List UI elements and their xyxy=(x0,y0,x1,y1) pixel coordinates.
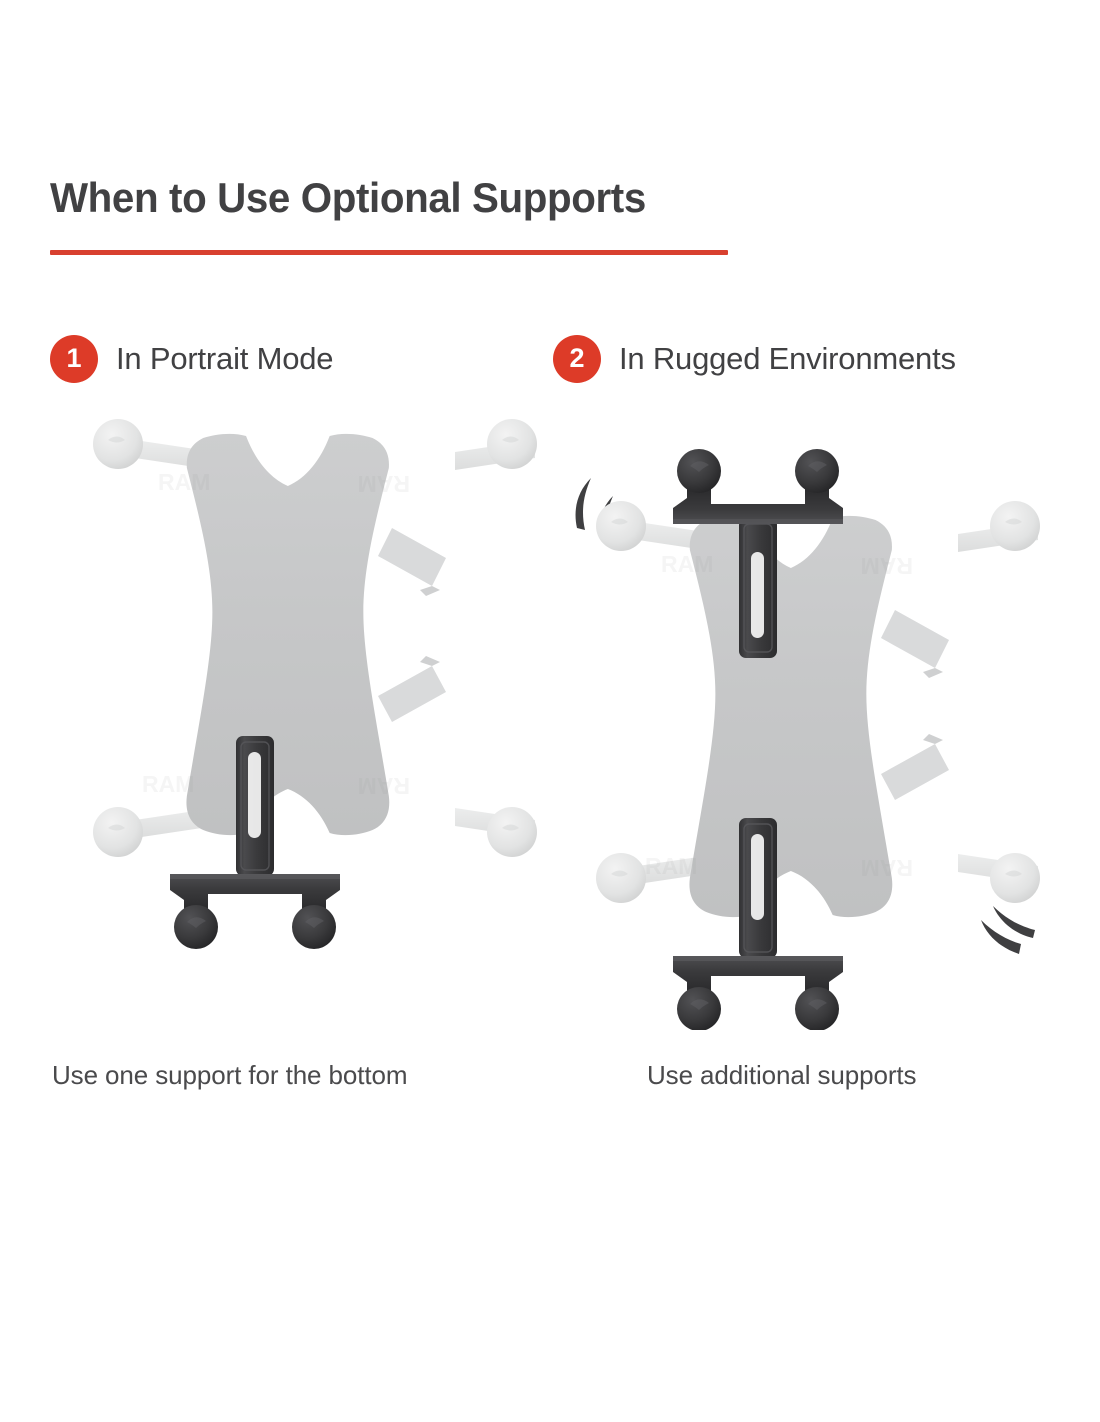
bracket-ball-right xyxy=(795,449,839,493)
svg-text:RAM: RAM xyxy=(358,773,410,799)
header: When to Use Optional Supports xyxy=(50,176,1010,220)
svg-text:RAM: RAM xyxy=(142,771,194,797)
panel-rugged-environments: 2 In Rugged Environments xyxy=(553,330,1053,1130)
svg-text:RAM: RAM xyxy=(358,471,410,497)
svg-text:RAM: RAM xyxy=(861,855,913,881)
cradle-side-tabs xyxy=(378,528,446,722)
panel-portrait-mode: 1 In Portrait Mode xyxy=(50,330,550,1130)
step-number-badge: 2 xyxy=(553,335,601,383)
svg-text:RAM: RAM xyxy=(661,551,713,577)
svg-text:RAM: RAM xyxy=(861,553,913,579)
infographic-page: When to Use Optional Supports 1 In Portr… xyxy=(0,0,1100,1422)
bracket-ball-left xyxy=(174,905,218,949)
illustration-rugged-environments: RAM RAM RAM RAM xyxy=(543,400,1053,1030)
panel-caption: Use one support for the bottom xyxy=(52,1060,407,1091)
svg-text:RAM: RAM xyxy=(645,853,697,879)
title-underline-rule xyxy=(50,250,728,255)
bracket-ball-right xyxy=(292,905,336,949)
bracket-ball-right xyxy=(795,987,839,1030)
panel-heading: In Rugged Environments xyxy=(619,341,956,377)
panel-caption: Use additional supports xyxy=(647,1060,916,1091)
step-number-badge: 1 xyxy=(50,335,98,383)
cradle-side-tabs xyxy=(881,610,949,800)
illustration-portrait-mode: RAM RAM RAM RAM xyxy=(40,400,550,1030)
panels-container: 1 In Portrait Mode xyxy=(0,330,1100,1130)
svg-text:RAM: RAM xyxy=(158,469,210,495)
panel-1-header: 1 In Portrait Mode xyxy=(50,330,333,388)
page-title: When to Use Optional Supports xyxy=(50,176,972,220)
vibration-lines-bottom-right xyxy=(981,906,1035,954)
bracket-ball-left xyxy=(677,449,721,493)
panel-heading: In Portrait Mode xyxy=(116,341,333,377)
bracket-ball-left xyxy=(677,987,721,1030)
panel-2-header: 2 In Rugged Environments xyxy=(553,330,956,388)
